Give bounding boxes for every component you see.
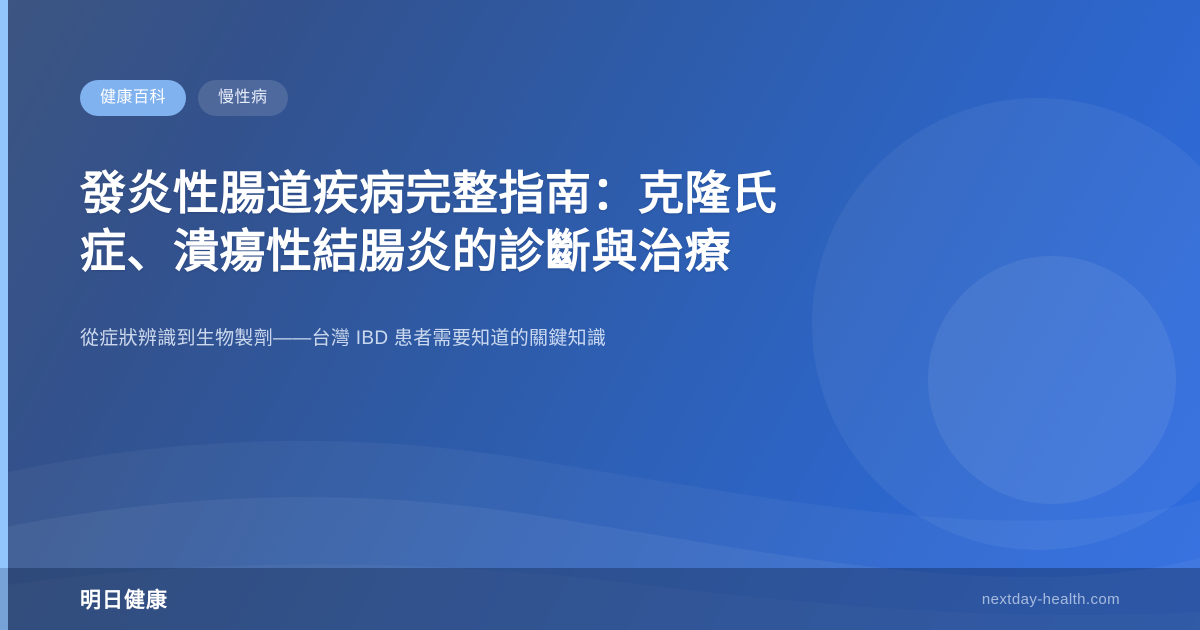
brand-name: 明日健康 bbox=[80, 584, 168, 614]
card-content: 健康百科 慢性病 發炎性腸道疾病完整指南：克隆氏症、潰瘍性結腸炎的診斷與治療 從… bbox=[80, 0, 940, 568]
og-card: 健康百科 慢性病 發炎性腸道疾病完整指南：克隆氏症、潰瘍性結腸炎的診斷與治療 從… bbox=[0, 0, 1200, 630]
left-accent-bar bbox=[0, 0, 8, 630]
tag-health-encyclopedia[interactable]: 健康百科 bbox=[80, 80, 186, 116]
page-title: 發炎性腸道疾病完整指南：克隆氏症、潰瘍性結腸炎的診斷與治療 bbox=[80, 164, 780, 280]
decorative-circle-small-icon bbox=[928, 256, 1176, 504]
site-url: nextday-health.com bbox=[982, 591, 1120, 608]
left-accent-bar-footer-segment bbox=[0, 568, 8, 630]
page-subtitle: 從症狀辨識到生物製劑——台灣 IBD 患者需要知道的關鍵知識 bbox=[80, 324, 840, 354]
footer-bar: 明日健康 nextday-health.com bbox=[0, 568, 1200, 630]
tag-chronic-disease[interactable]: 慢性病 bbox=[198, 80, 288, 116]
tag-row: 健康百科 慢性病 bbox=[80, 80, 940, 116]
